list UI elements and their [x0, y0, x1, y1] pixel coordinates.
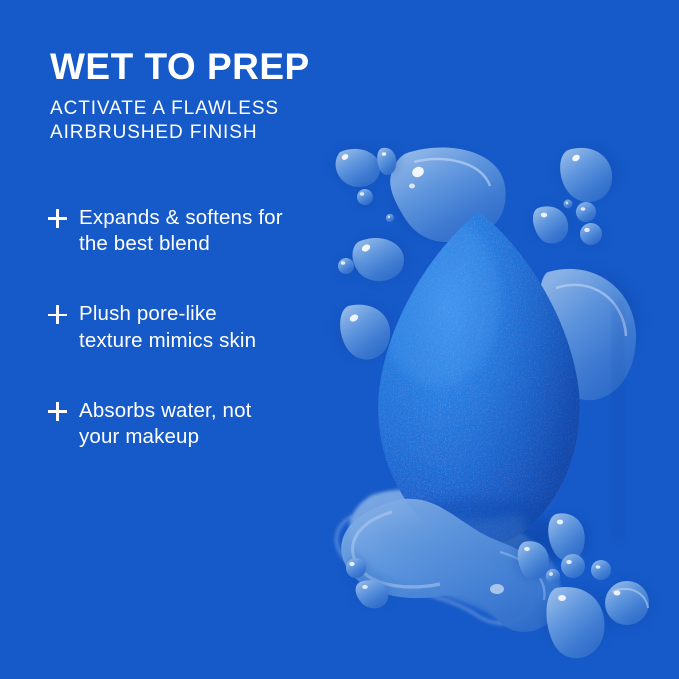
plus-icon: [48, 305, 67, 324]
page-subtitle: ACTIVATE A FLAWLESS AIRBRUSHED FINISH: [50, 97, 350, 146]
benefit-text: Expands & softens for the best blend: [79, 205, 348, 257]
plus-icon: [48, 402, 67, 421]
list-item: Absorbs water, not your makeup: [48, 398, 348, 450]
list-item: Expands & softens for the best blend: [48, 205, 348, 257]
plus-icon: [48, 209, 67, 228]
page-title: WET TO PREP: [50, 48, 350, 85]
product-feature-image: WET TO PREP ACTIVATE A FLAWLESS AIRBRUSH…: [0, 0, 679, 679]
benefit-text: Plush pore-like texture mimics skin: [79, 301, 348, 353]
benefits-list: Expands & softens for the best blend Plu…: [48, 205, 348, 450]
list-item: Plush pore-like texture mimics skin: [48, 301, 348, 353]
benefit-text: Absorbs water, not your makeup: [79, 398, 348, 450]
headline-block: WET TO PREP ACTIVATE A FLAWLESS AIRBRUSH…: [50, 48, 350, 146]
